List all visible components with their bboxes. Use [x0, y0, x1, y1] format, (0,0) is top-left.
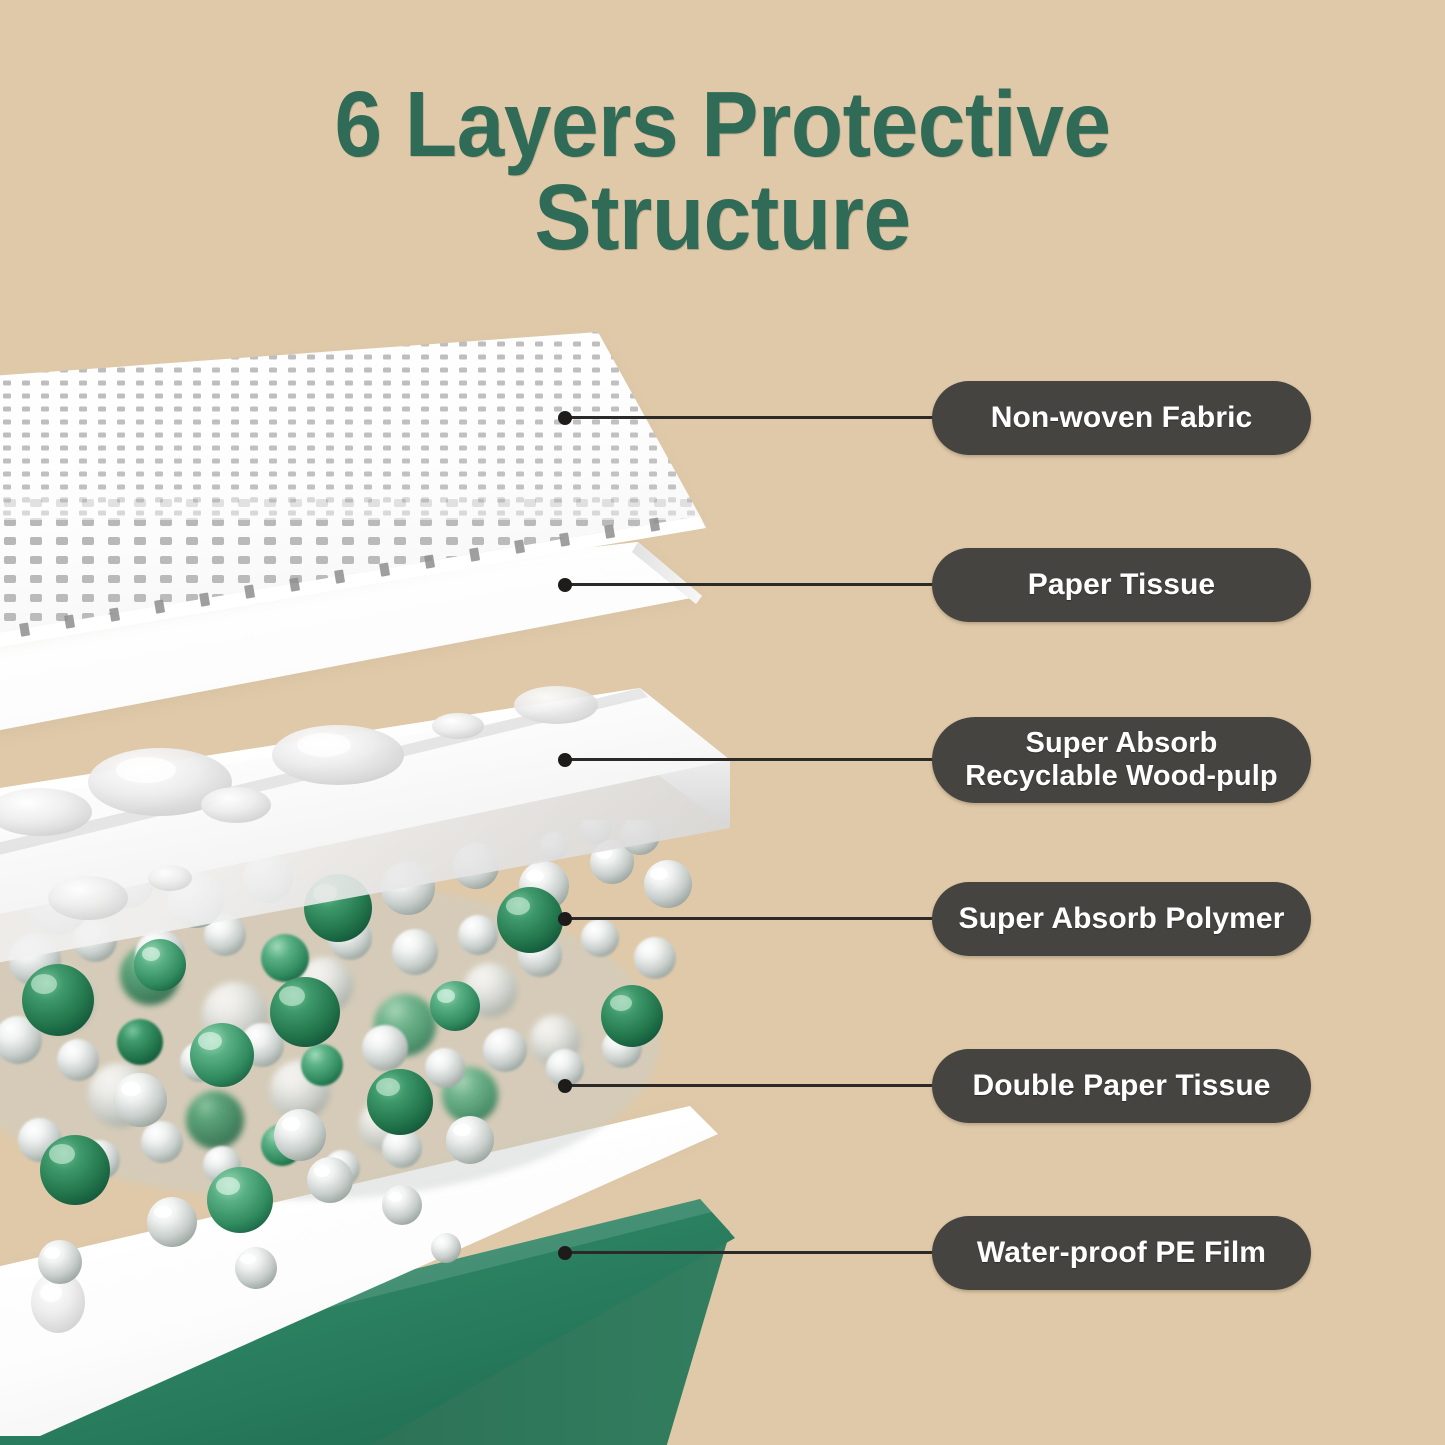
green-bead	[601, 985, 663, 1047]
label-pill-water-proof-pe-film[interactable]: Water-proof PE Film	[932, 1216, 1311, 1290]
label-pill-super-absorb-polymer[interactable]: Super Absorb Polymer	[932, 882, 1311, 956]
label-text-double-paper-tissue: Double Paper Tissue	[958, 1069, 1284, 1103]
label-pill-super-absorb-recyclable-wood-pulp[interactable]: Super Absorb Recyclable Wood-pulp	[932, 717, 1311, 803]
green-bead	[430, 981, 480, 1031]
green-bead	[190, 1023, 254, 1087]
page-title-line-1: 6 Layers Protective	[334, 72, 1110, 176]
leader-line-4	[565, 917, 937, 920]
green-bead	[207, 1167, 273, 1233]
label-pill-non-woven-fabric[interactable]: Non-woven Fabric	[932, 381, 1311, 455]
label-text-super-absorb-polymer: Super Absorb Polymer	[945, 902, 1299, 936]
leader-dot-4	[558, 912, 572, 926]
label-pill-double-paper-tissue[interactable]: Double Paper Tissue	[932, 1049, 1311, 1123]
green-bead	[270, 977, 340, 1047]
label-pill-paper-tissue[interactable]: Paper Tissue	[932, 548, 1311, 622]
leader-dot-1	[558, 411, 572, 425]
leader-dot-3	[558, 753, 572, 767]
leader-dot-6	[558, 1246, 572, 1260]
green-bead	[134, 939, 186, 991]
leader-dot-2	[558, 578, 572, 592]
leader-line-5	[565, 1084, 937, 1087]
leader-line-2	[565, 583, 937, 586]
infographic-canvas: 6 Layers ProtectiveStructure Non-woven F…	[0, 0, 1445, 1445]
green-bead	[40, 1135, 110, 1205]
page-title: 6 Layers ProtectiveStructure	[58, 78, 1387, 264]
leader-line-1	[565, 416, 937, 419]
label-text-paper-tissue: Paper Tissue	[1014, 568, 1229, 602]
green-bead	[367, 1069, 433, 1135]
green-bead	[497, 887, 563, 953]
leader-line-3	[565, 758, 937, 761]
green-bead	[22, 964, 94, 1036]
label-text-super-absorb-recyclable-wood-pulp: Super Absorb Recyclable Wood-pulp	[951, 727, 1291, 794]
label-text-non-woven-fabric: Non-woven Fabric	[977, 401, 1267, 435]
leader-dot-5	[558, 1079, 572, 1093]
page-title-line-2: Structure	[58, 171, 1387, 264]
label-text-water-proof-pe-film: Water-proof PE Film	[963, 1236, 1280, 1270]
leader-line-6	[565, 1251, 937, 1254]
